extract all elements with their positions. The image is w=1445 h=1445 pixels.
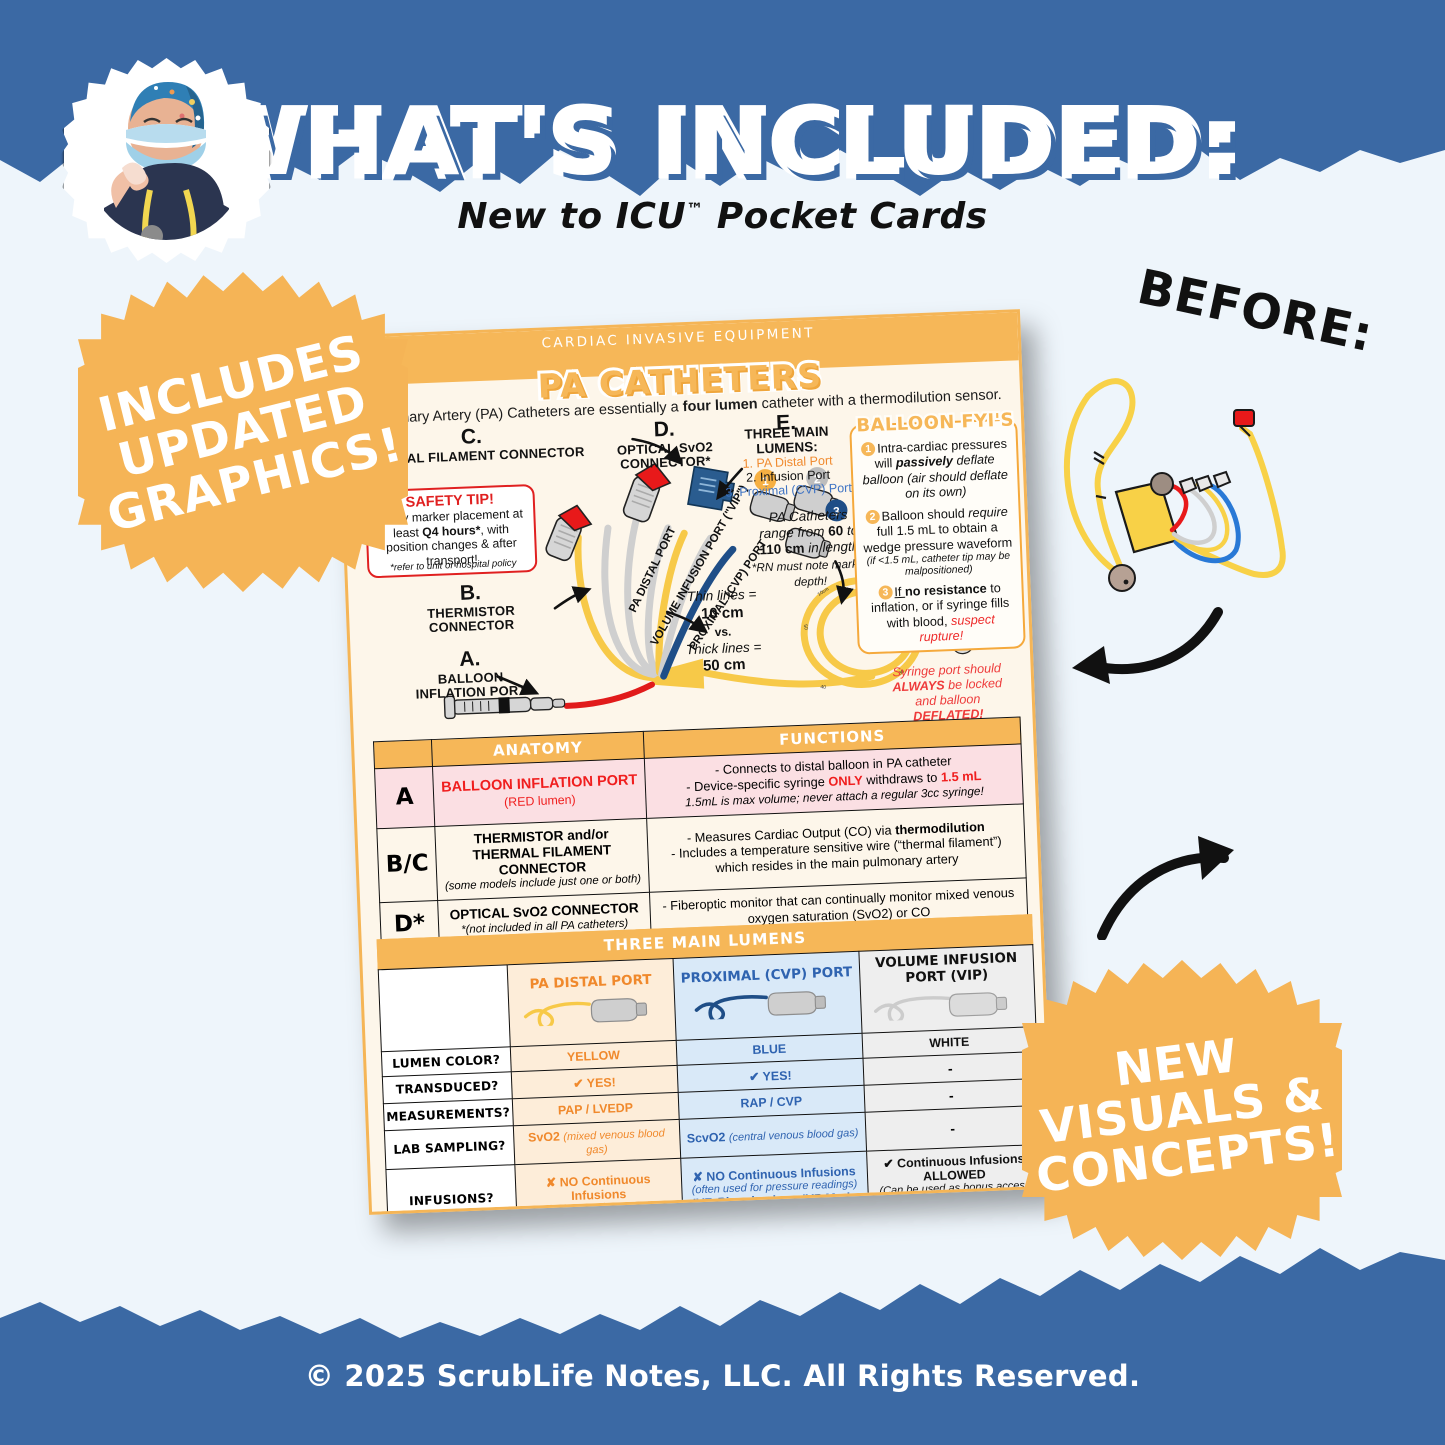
fyi-2-b: full 1.5 mL to obtain a wedge pressure w… bbox=[863, 521, 1012, 556]
row-a-anatomy: BALLOON INFLATION PORT (RED lumen) bbox=[432, 758, 646, 826]
row-bc-anatomy-main: THERMISTOR and/or THERMAL FILAMENT CONNE… bbox=[440, 825, 645, 881]
col-head-pa: PA DISTAL PORT bbox=[507, 958, 676, 1046]
fyi-number-3: 3 bbox=[878, 585, 893, 600]
row-bc-key: B/C bbox=[377, 826, 438, 903]
balloon-fyi-box: BALLOON FYI'S 1Intra-cardiac pressures w… bbox=[849, 418, 1026, 654]
three-main-lumens-table-wrap: THREE MAIN LUMENS PA DISTAL PORT PROXIMA… bbox=[377, 914, 1044, 1215]
before-arrow-bottom-icon bbox=[1068, 810, 1248, 940]
label-a: A. BALLOONINFLATION PORT bbox=[379, 644, 563, 704]
thin-label: Thin lines = bbox=[687, 587, 757, 605]
vs-label: vs. bbox=[714, 624, 731, 639]
thick-label: Thick lines = bbox=[686, 639, 762, 657]
anatomy-functions-table: ANATOMY FUNCTIONS A BALLOON INFLATION PO… bbox=[373, 716, 1028, 948]
row-a-fn-volume: 1.5 mL bbox=[941, 768, 982, 785]
badge-concepts-text: NEW VISUALS & CONCEPTS! bbox=[1005, 942, 1359, 1279]
fyi-2-em: require bbox=[968, 505, 1008, 521]
fyi-2-a: Balloon should bbox=[881, 506, 968, 523]
label-d: D. OPTICAL SvO2CONNECTOR* bbox=[604, 416, 726, 473]
fyi-1-em: passively bbox=[896, 454, 954, 470]
badge-new-visuals-concepts: NEW VISUALS & CONCEPTS! bbox=[1022, 960, 1342, 1260]
catheter-diagram: 1 2 3 10cm 20 30 40 50 bbox=[342, 408, 1038, 734]
cvp-port-icon bbox=[692, 981, 843, 1021]
row-infusions-cvp: ✘ NO Continuous Infusions (often used fo… bbox=[680, 1151, 868, 1215]
lab-cvp-main: ScvO2 bbox=[687, 1130, 730, 1146]
row-a-key: A bbox=[375, 767, 435, 829]
row-lab-sampling-vip: - bbox=[865, 1106, 1041, 1152]
row-infusions-vip: ✔ Continuous Infusions ALLOWED (Can be u… bbox=[866, 1145, 1043, 1215]
svg-text:40: 40 bbox=[820, 684, 827, 691]
lab-pa-sub: (mixed venous blood gas) bbox=[563, 1127, 665, 1156]
vip-port-icon bbox=[867, 981, 1028, 1021]
pocket-card: CARDIAC INVASIVE EQUIPMENT PA CATHETERS … bbox=[335, 309, 1053, 1215]
range-line-3b: in length bbox=[804, 539, 859, 556]
syringe-warning-l2a: ALWAYS bbox=[892, 678, 945, 694]
subtitle-main: New to ICU bbox=[457, 196, 686, 237]
row-bc-anatomy: THERMISTOR and/or THERMAL FILAMENT CONNE… bbox=[435, 818, 650, 901]
fyi-number-2: 2 bbox=[865, 510, 880, 525]
trademark-icon: ™ bbox=[686, 200, 704, 220]
range-line-4: *RN must note marker depth! bbox=[751, 556, 868, 589]
lab-pa-main: SvO2 bbox=[528, 1129, 564, 1144]
subtitle-rest: Pocket Cards bbox=[704, 196, 988, 237]
balloon-fyi-item-3: 3If no resistance to inflation, or if sy… bbox=[864, 580, 1016, 648]
range-line-1: PA Catheters bbox=[768, 507, 847, 525]
badge-updated-graphics: INCLUDES UPDATED GRAPHICS! bbox=[78, 272, 408, 592]
avatar bbox=[64, 58, 269, 263]
pa-port-icon bbox=[521, 987, 662, 1026]
before-arrow-top-icon bbox=[1058, 600, 1238, 690]
range-line-2a: range from bbox=[759, 524, 829, 542]
balloon-fyi-item-2: 2Balloon should require full 1.5 mL to o… bbox=[861, 505, 1014, 580]
line-thickness-note: Thin lines = 10 cm vs. Thick lines = 50 … bbox=[666, 586, 779, 678]
svg-text:50: 50 bbox=[802, 624, 809, 631]
label-d-text: OPTICAL SvO2CONNECTOR* bbox=[605, 439, 726, 473]
fyi-number-1: 1 bbox=[861, 442, 876, 457]
lumens-corner-cell bbox=[378, 965, 510, 1052]
thin-value: 10 cm bbox=[667, 603, 778, 626]
row-lab-sampling-label: LAB SAMPLING? bbox=[384, 1126, 514, 1170]
header-blank-cell bbox=[373, 740, 432, 769]
syringe-warning-l3: and balloon bbox=[915, 692, 981, 708]
fyi-3-em: no resistance bbox=[905, 581, 987, 598]
three-main-lumens-list: THREE MAIN LUMENS: 1. PA Distal Port 2. … bbox=[716, 423, 859, 500]
label-b: B. THERMISTORCONNECTOR bbox=[394, 579, 548, 637]
bottom-torn-banner bbox=[0, 1230, 1445, 1445]
row-lab-sampling-pa: SvO2 (mixed venous blood gas) bbox=[513, 1119, 680, 1164]
range-line-2b: 60 bbox=[828, 523, 844, 539]
balloon-fyi-item-1: 1Intra-cardiac pressures will passively … bbox=[859, 437, 1011, 505]
three-main-lumens-table: PA DISTAL PORT PROXIMAL (CVP) PORT bbox=[378, 944, 1044, 1215]
fyi-2-tiny: (if <1.5 mL, catheter tip may be malposi… bbox=[863, 551, 1014, 580]
infusions-vip-sub: (Can be used as bonus access line!) bbox=[871, 1179, 1039, 1209]
footer-copyright: © 2025 ScrubLife Notes, LLC. All Rights … bbox=[0, 1359, 1445, 1393]
row-bc-functions: - Measures Cardiac Output (CO) via therm… bbox=[647, 804, 1027, 893]
nurse-illustration-icon bbox=[64, 58, 269, 263]
fyi-1-ital: (air should deflate on its own) bbox=[905, 468, 1008, 501]
col-head-cvp: PROXIMAL (CVP) PORT bbox=[673, 951, 862, 1040]
lab-cvp-sub: (central venous blood gas) bbox=[729, 1127, 859, 1144]
row-infusions-label: INFUSIONS? bbox=[386, 1165, 517, 1215]
row-a-fn-only: ONLY bbox=[828, 773, 863, 789]
badge-graphics-text: INCLUDES UPDATED GRAPHICS! bbox=[44, 237, 442, 627]
range-line-3a: 110 cm bbox=[759, 541, 805, 558]
row-infusions-pa: ✘ NO Continuous Infusions (only transduc… bbox=[515, 1158, 683, 1214]
syringe-warning-l2b: be locked bbox=[944, 676, 1002, 692]
row-a-fn-2b: withdraws to bbox=[862, 770, 941, 788]
label-b-text: THERMISTORCONNECTOR bbox=[395, 602, 548, 637]
